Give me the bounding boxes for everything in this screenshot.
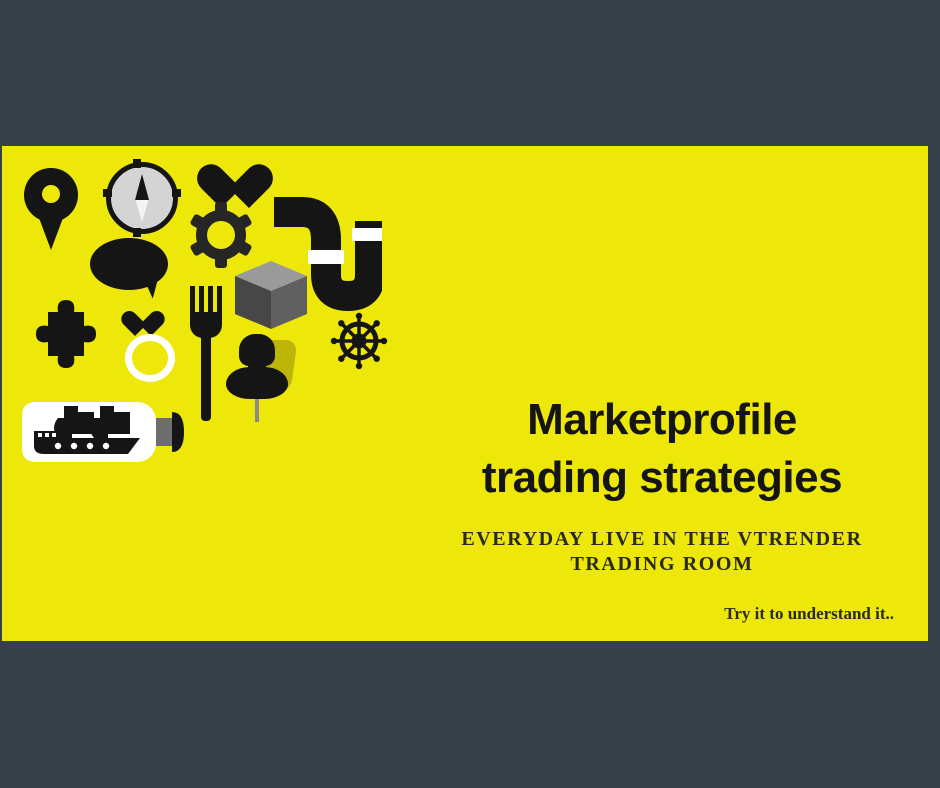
yellow-banner-panel: Marketprofile trading strategies EVERYDA… xyxy=(2,146,928,641)
tagline: Try it to understand it.. xyxy=(412,604,894,624)
fork-icon xyxy=(188,286,222,421)
subtitle-line-2: TRADING ROOM xyxy=(412,552,912,576)
puzzle-piece-icon xyxy=(24,290,104,382)
icon-collage xyxy=(2,146,402,486)
push-pin-icon xyxy=(226,334,298,424)
headline-line-1: Marketprofile xyxy=(412,391,912,449)
map-pin-icon xyxy=(24,168,78,250)
banner-screenshot: Marketprofile trading strategies EVERYDA… xyxy=(0,0,940,788)
diamond-ring-icon xyxy=(122,312,180,384)
ship-in-bottle-icon xyxy=(20,398,188,466)
subtitle-line-1: EVERYDAY LIVE IN THE VTRENDER xyxy=(412,527,912,551)
cube-icon xyxy=(233,259,309,331)
promo-text-block: Marketprofile trading strategies EVERYDA… xyxy=(412,391,912,624)
ship-wheel-icon xyxy=(329,311,389,371)
gear-icon xyxy=(190,204,252,266)
subtitle: EVERYDAY LIVE IN THE VTRENDER TRADING RO… xyxy=(412,527,912,576)
compass-icon xyxy=(106,162,178,234)
headline-line-2: trading strategies xyxy=(412,449,912,507)
page-title: Marketprofile trading strategies xyxy=(412,391,912,507)
